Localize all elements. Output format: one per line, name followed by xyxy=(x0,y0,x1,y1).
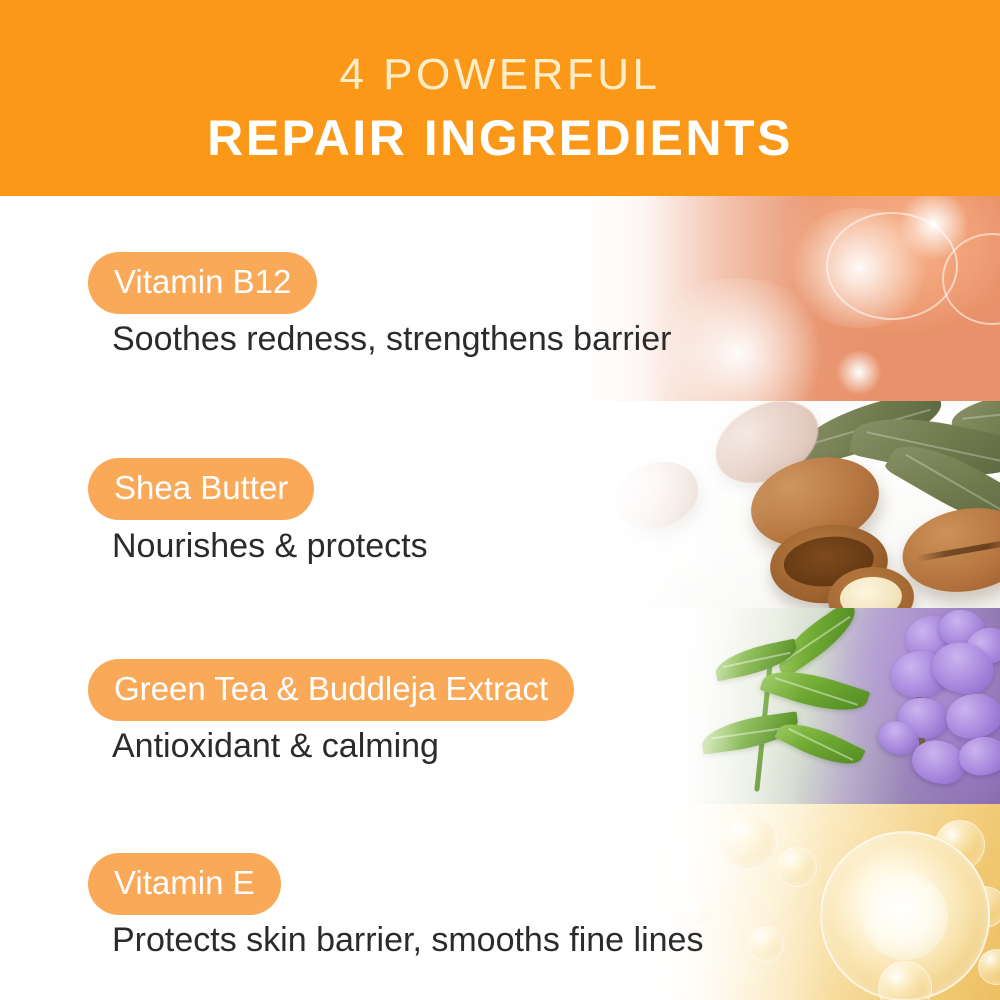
ingredient-text-block: Vitamin B12 Soothes redness, strengthens… xyxy=(0,196,1000,401)
ingredient-name-badge: Vitamin B12 xyxy=(88,252,317,314)
ingredient-benefit-text: Protects skin barrier, smooths fine line… xyxy=(112,923,703,957)
ingredient-benefit-text: Soothes redness, strengthens barrier xyxy=(112,322,671,356)
ingredient-row-vitamin-b12: Vitamin B12 Soothes redness, strengthens… xyxy=(0,196,1000,401)
ingredient-row-shea-butter: Shea Butter Nourishes & protects xyxy=(0,401,1000,608)
header-title-line-1: 4 POWERFUL xyxy=(339,52,660,98)
header-banner: 4 POWERFUL REPAIR INGREDIENTS xyxy=(0,0,1000,196)
ingredient-benefit-text: Nourishes & protects xyxy=(112,529,428,563)
ingredient-benefit-text: Antioxidant & calming xyxy=(112,729,439,763)
ingredient-text-block: Green Tea & Buddleja Extract Antioxidant… xyxy=(0,608,1000,804)
ingredient-name-badge: Shea Butter xyxy=(88,458,314,520)
ingredients-list: Vitamin B12 Soothes redness, strengthens… xyxy=(0,196,1000,1000)
ingredient-name-badge: Vitamin E xyxy=(88,853,281,915)
ingredient-row-vitamin-e: Vitamin E Protects skin barrier, smooths… xyxy=(0,804,1000,1000)
ingredients-infographic: 4 POWERFUL REPAIR INGREDIENTS Vitamin B1… xyxy=(0,0,1000,1000)
ingredient-text-block: Shea Butter Nourishes & protects xyxy=(0,401,1000,608)
ingredient-row-green-tea-buddleja: Green Tea & Buddleja Extract Antioxidant… xyxy=(0,608,1000,804)
header-title-line-2: REPAIR INGREDIENTS xyxy=(207,110,793,166)
ingredient-name-badge: Green Tea & Buddleja Extract xyxy=(88,659,574,721)
ingredient-text-block: Vitamin E Protects skin barrier, smooths… xyxy=(0,804,1000,1000)
